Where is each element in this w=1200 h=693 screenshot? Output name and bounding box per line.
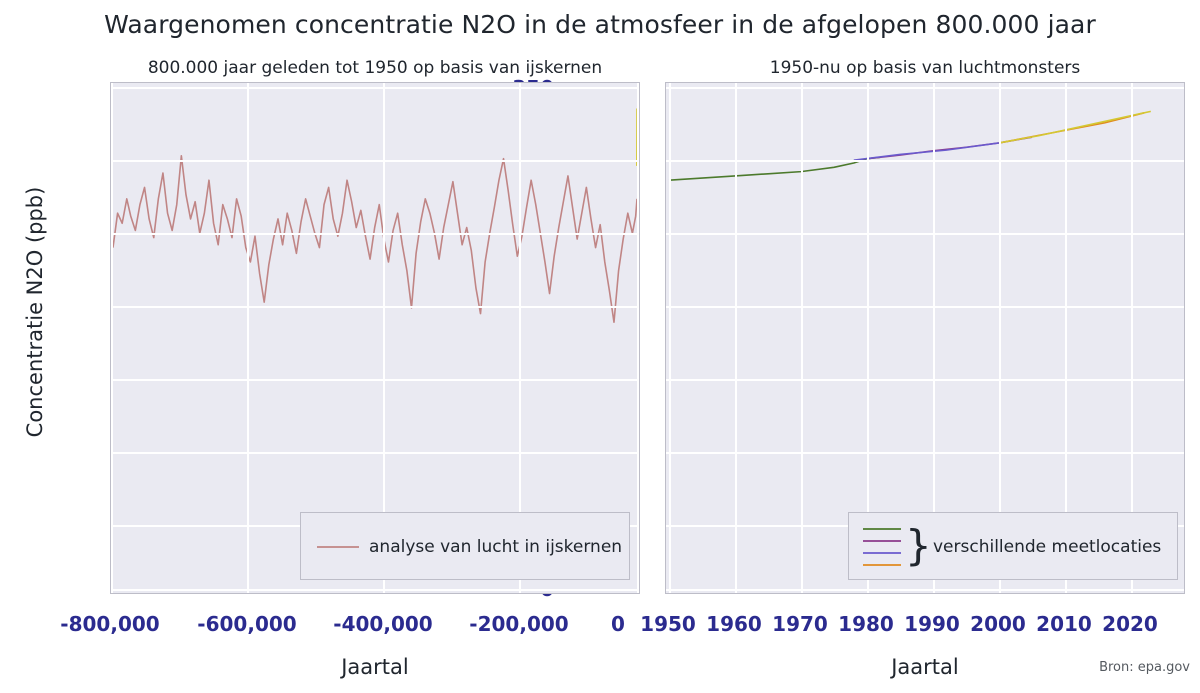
gridline-h-150: [111, 379, 639, 381]
left-panel-subtitle: 800.000 jaar geleden tot 1950 op basis v…: [110, 58, 640, 78]
gridline-h-350: [111, 87, 639, 89]
legend-right: } verschillende meetlocaties: [848, 512, 1178, 580]
gridline-v-1970: [801, 83, 803, 593]
legend-left-label: analyse van lucht in ijskernen: [369, 537, 622, 557]
gridline-h-300: [666, 160, 1184, 162]
page-title: Waargenomen concentratie N2O in de atmos…: [0, 10, 1200, 39]
gridline-h-100: [111, 452, 639, 454]
x-axis-label-left: Jaartal: [110, 655, 640, 679]
gridline-h-200: [666, 306, 1184, 308]
gridline-v-600000: [247, 83, 249, 593]
gridline-h-0: [666, 589, 1184, 591]
gridline-v-1960: [735, 83, 737, 593]
x-tick-left-800000: -800,000: [35, 612, 185, 636]
source-note: Bron: epa.gov: [1099, 660, 1190, 675]
x-tick-left-400000: -400,000: [308, 612, 458, 636]
gridline-h-350: [666, 87, 1184, 89]
gridline-h-250: [111, 233, 639, 235]
gridline-h-250: [666, 233, 1184, 235]
gridline-h-100: [666, 452, 1184, 454]
gridline-h-200: [111, 306, 639, 308]
x-tick-left-200000: -200,000: [444, 612, 594, 636]
legend-left: analyse van lucht in ijskernen: [300, 512, 630, 580]
legend-brace: }: [905, 525, 932, 567]
gridline-h-300: [111, 160, 639, 162]
x-tick-right-2020: 2020: [1075, 612, 1185, 636]
gridline-v-0: [637, 83, 639, 593]
gridline-v-1950: [669, 83, 671, 593]
legend-right-label: verschillende meetlocaties: [933, 537, 1161, 557]
gridline-h-150: [666, 379, 1184, 381]
x-tick-left-600000: -600,000: [172, 612, 322, 636]
gridline-h-0: [111, 589, 639, 591]
right-panel-subtitle: 1950-nu op basis van luchtmonsters: [665, 58, 1185, 78]
y-axis-label: Concentratie N2O (ppb): [23, 142, 47, 482]
gridline-v-800000: [111, 83, 113, 593]
